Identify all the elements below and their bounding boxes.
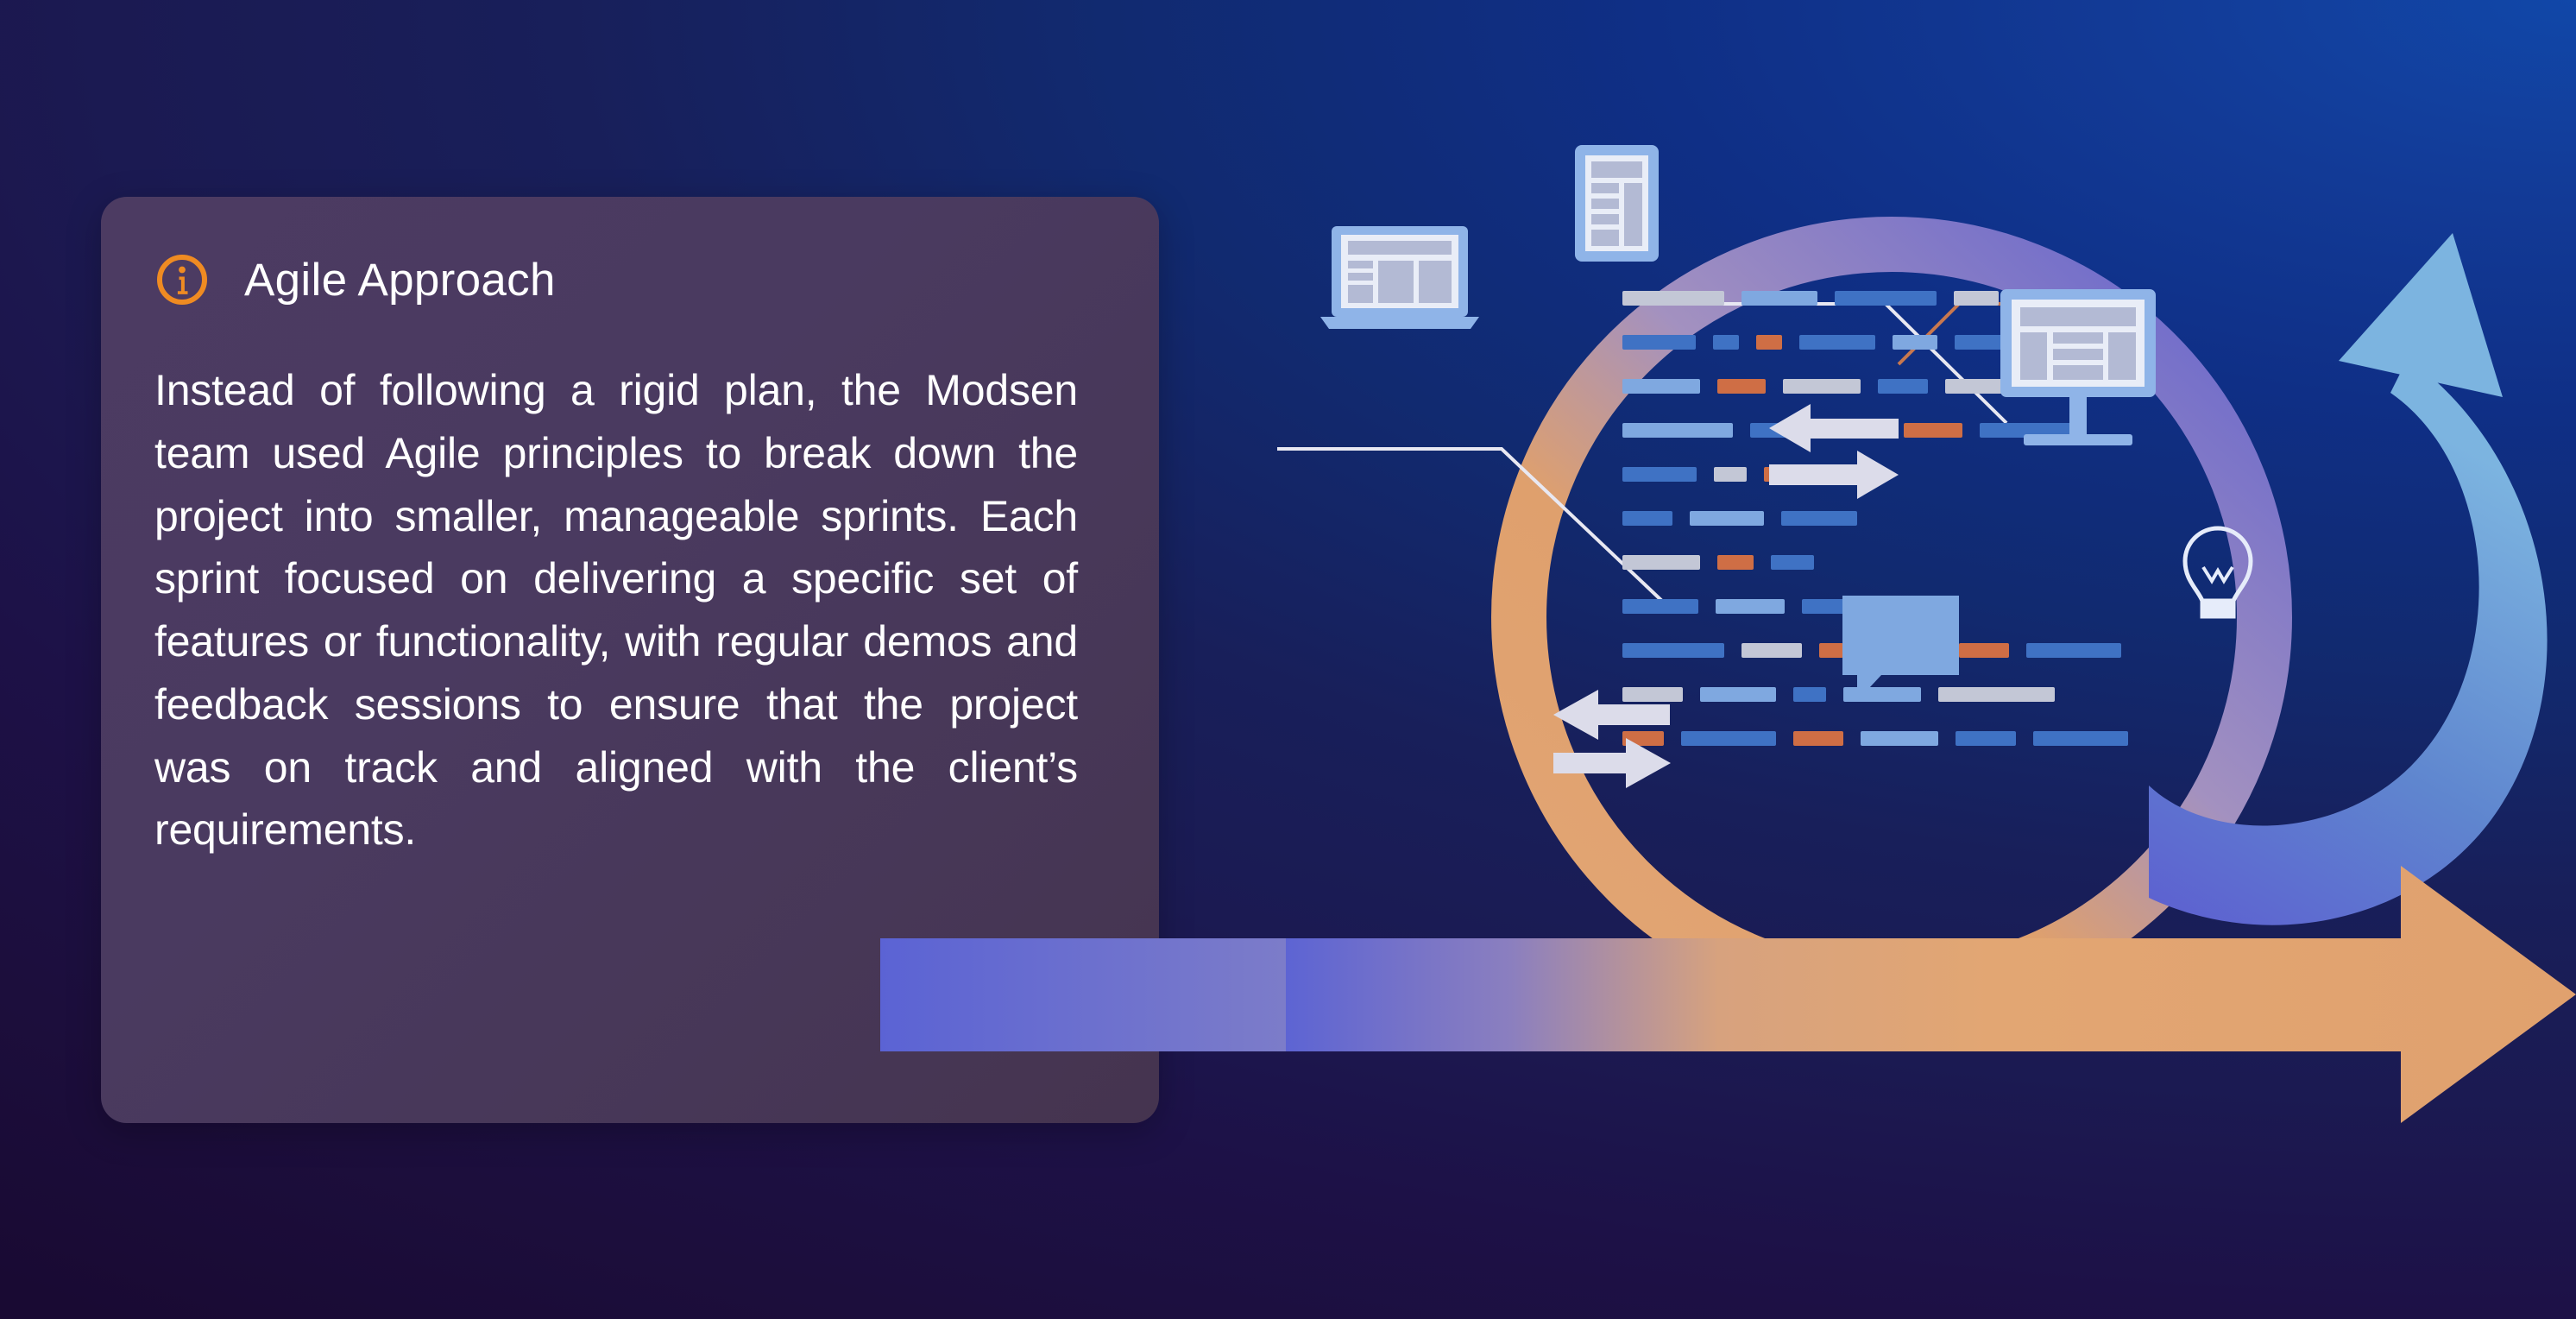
progress-arrow	[1277, 866, 2576, 1123]
return-arrow	[2149, 233, 2548, 925]
page-title: Agile Approach	[244, 257, 556, 303]
agile-iteration-cycle-illustration	[1277, 0, 2576, 1319]
info-circle-icon	[154, 252, 210, 307]
monitor-icon	[2000, 289, 2156, 445]
laptop-icon	[1320, 226, 1479, 329]
exchange-arrows-top	[1769, 404, 1899, 499]
card-header: Agile Approach	[154, 252, 1093, 307]
speech-bubble-icon	[1842, 596, 1959, 701]
card-body-text: Instead of following a rigid plan, the M…	[154, 359, 1093, 925]
progress-arrow-tail	[880, 938, 1286, 1052]
tablet-icon	[1575, 145, 1659, 262]
slide-root: Agile Approach Instead of following a ri…	[0, 0, 2576, 1319]
